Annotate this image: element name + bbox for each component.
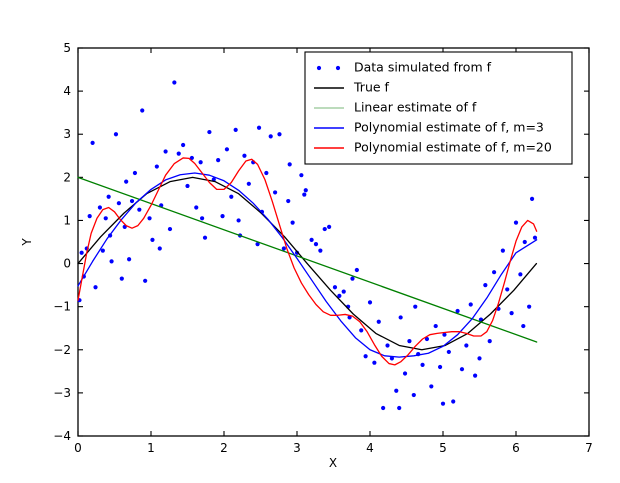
data-point: [91, 141, 95, 145]
x-tick-label: 3: [293, 441, 301, 455]
legend[interactable]: Data simulated from fTrue fLinear estima…: [305, 52, 572, 164]
data-point: [464, 343, 468, 347]
matplotlib-plot: 01234567 −4−3−2−1012345 X Y Data simulat…: [0, 0, 620, 483]
data-point: [527, 305, 531, 309]
data-point: [181, 143, 185, 147]
data-point: [460, 367, 464, 371]
data-point: [229, 195, 233, 199]
figure-canvas: 01234567 −4−3−2−1012345 X Y Data simulat…: [0, 0, 620, 483]
data-point: [164, 149, 168, 153]
data-point: [80, 251, 84, 255]
data-point: [323, 227, 327, 231]
data-point: [299, 173, 303, 177]
data-point: [310, 238, 314, 242]
data-point: [488, 339, 492, 343]
data-point: [288, 162, 292, 166]
x-tick-label: 7: [585, 441, 593, 455]
data-point: [447, 350, 451, 354]
data-point: [420, 363, 424, 367]
data-point: [407, 339, 411, 343]
data-point: [158, 246, 162, 250]
data-point: [501, 249, 505, 253]
data-point: [318, 249, 322, 253]
data-point: [168, 227, 172, 231]
data-point: [368, 300, 372, 304]
legend-label: Polynomial estimate of f, m=20: [354, 140, 552, 155]
data-point: [199, 160, 203, 164]
y-tick-label: 1: [63, 213, 71, 227]
data-point: [483, 283, 487, 287]
data-point: [505, 287, 509, 291]
data-point: [107, 195, 111, 199]
y-axis-label: Y: [20, 238, 34, 247]
data-point: [397, 406, 401, 410]
data-point: [216, 158, 220, 162]
data-point: [277, 132, 281, 136]
data-point: [273, 190, 277, 194]
data-point: [314, 242, 318, 246]
y-tick-label: −3: [53, 386, 71, 400]
data-point: [247, 182, 251, 186]
data-point: [203, 236, 207, 240]
data-point: [394, 389, 398, 393]
data-point: [473, 374, 477, 378]
data-point: [143, 279, 147, 283]
data-point: [237, 218, 241, 222]
data-point: [98, 205, 102, 209]
data-point: [117, 201, 121, 205]
data-point: [286, 199, 290, 203]
data-point: [451, 399, 455, 403]
data-point: [200, 216, 204, 220]
data-point: [242, 154, 246, 158]
data-point: [359, 328, 363, 332]
data-point: [518, 272, 522, 276]
data-point: [434, 324, 438, 328]
data-point: [133, 171, 137, 175]
data-point: [403, 371, 407, 375]
data-point: [137, 208, 141, 212]
data-point: [114, 132, 118, 136]
data-point: [88, 214, 92, 218]
legend-label: Data simulated from f: [354, 60, 492, 75]
data-point: [140, 108, 144, 112]
legend-label: Linear estimate of f: [354, 100, 477, 115]
data-point: [234, 128, 238, 132]
x-tick-label: 6: [512, 441, 520, 455]
data-point: [291, 221, 295, 225]
legend-marker-point: [317, 66, 321, 70]
y-tick-label: 0: [63, 257, 71, 271]
y-tick-label: 3: [63, 127, 71, 141]
data-point: [441, 402, 445, 406]
data-point: [104, 216, 108, 220]
data-point: [93, 285, 97, 289]
data-point: [530, 197, 534, 201]
y-tick-label: 2: [63, 170, 71, 184]
data-point: [264, 171, 268, 175]
data-point: [355, 268, 359, 272]
data-point: [381, 406, 385, 410]
data-point: [302, 192, 306, 196]
data-point: [429, 384, 433, 388]
data-point: [492, 270, 496, 274]
legend-marker-point: [336, 66, 340, 70]
data-point: [207, 130, 211, 134]
data-point: [342, 289, 346, 293]
data-point: [510, 311, 514, 315]
data-point: [155, 164, 159, 168]
legend-label: True f: [353, 80, 390, 95]
data-point: [377, 320, 381, 324]
data-point: [523, 240, 527, 244]
data-point: [412, 393, 416, 397]
data-point: [147, 216, 151, 220]
data-point: [372, 361, 376, 365]
data-point: [304, 188, 308, 192]
data-point: [177, 152, 181, 156]
data-point: [333, 285, 337, 289]
data-point: [109, 259, 113, 263]
data-point: [385, 343, 389, 347]
y-tick-label: −2: [53, 343, 71, 357]
y-tick-label: −4: [53, 429, 71, 443]
data-point: [364, 354, 368, 358]
x-tick-label: 1: [147, 441, 155, 455]
x-axis-label: X: [329, 456, 337, 470]
y-tick-label: −1: [53, 300, 71, 314]
data-point: [257, 126, 261, 130]
data-point: [225, 147, 229, 151]
data-point: [124, 180, 128, 184]
data-point: [120, 277, 124, 281]
data-point: [521, 324, 525, 328]
data-point: [172, 80, 176, 84]
y-tick-label: 5: [63, 41, 71, 55]
x-tick-label: 0: [74, 441, 82, 455]
data-point: [269, 134, 273, 138]
data-point: [533, 236, 537, 240]
legend-label: Polynomial estimate of f, m=3: [354, 120, 544, 135]
data-point: [220, 214, 224, 218]
data-point: [130, 199, 134, 203]
data-point: [514, 221, 518, 225]
data-point: [282, 246, 286, 250]
data-point: [413, 305, 417, 309]
x-tick-label: 2: [220, 441, 228, 455]
x-tick-label: 5: [439, 441, 447, 455]
data-point: [350, 277, 354, 281]
y-tick-label: 4: [63, 84, 71, 98]
data-point: [101, 249, 105, 253]
data-point: [150, 238, 154, 242]
data-point: [194, 205, 198, 209]
data-point: [477, 356, 481, 360]
data-point: [469, 302, 473, 306]
data-point: [327, 225, 331, 229]
data-point: [399, 315, 403, 319]
data-point: [438, 365, 442, 369]
data-point: [185, 184, 189, 188]
data-point: [127, 257, 131, 261]
x-tick-label: 4: [366, 441, 374, 455]
